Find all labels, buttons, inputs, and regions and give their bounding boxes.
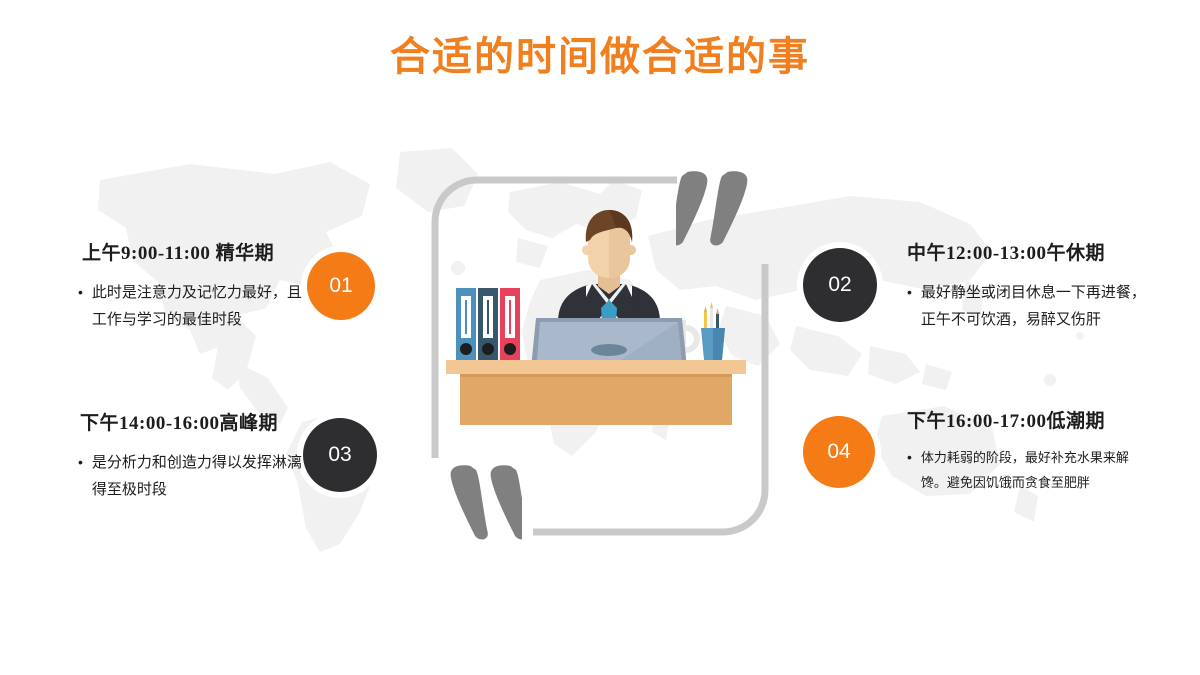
block-heading-04: 下午16:00-17:00低潮期 — [907, 406, 1149, 433]
block-body-03: • 是分析力和创造力得以发挥淋漓得至极时段 — [78, 449, 310, 503]
block-heading-01: 上午9:00-11:00 精华期 — [78, 238, 310, 265]
step-number-circle-02[interactable]: 02 — [803, 248, 877, 322]
block-body-text-01: 此时是注意力及记忆力最好，且工作与学习的最佳时段 — [92, 279, 310, 333]
ring-binders-icon — [456, 288, 520, 360]
block-body-01: • 此时是注意力及记忆力最好，且工作与学习的最佳时段 — [78, 279, 310, 333]
opening-quote-marks-icon — [426, 462, 522, 542]
bullet-icon: • — [907, 279, 921, 333]
page-title: 合适的时间做合适的事 — [0, 24, 1200, 82]
content-block-03: 下午14:00-16:00高峰期 • 是分析力和创造力得以发挥淋漓得至极时段 — [78, 408, 310, 503]
block-body-02: • 最好静坐或闭目休息一下再进餐，正午不可饮酒，易醉又伤肝 — [907, 279, 1149, 333]
slide-canvas: 合适的时间做合适的事 — [0, 0, 1200, 675]
block-body-text-02: 最好静坐或闭目休息一下再进餐，正午不可饮酒，易醉又伤肝 — [921, 279, 1149, 333]
block-heading-02: 中午12:00-13:00午休期 — [907, 238, 1149, 265]
pencil-cup-icon — [701, 302, 725, 360]
bullet-icon: • — [78, 279, 92, 333]
block-body-text-04: 体力耗弱的阶段，最好补充水果来解馋。避免因饥饿而贪食至肥胖 — [921, 445, 1149, 495]
step-number-circle-04[interactable]: 04 — [803, 416, 875, 488]
block-body-04: • 体力耗弱的阶段，最好补充水果来解馋。避免因饥饿而贪食至肥胖 — [907, 445, 1149, 495]
block-heading-03: 下午14:00-16:00高峰期 — [78, 408, 310, 435]
content-block-04: 下午16:00-17:00低潮期 • 体力耗弱的阶段，最好补充水果来解馋。避免因… — [907, 406, 1149, 495]
desk-icon — [446, 360, 746, 425]
content-block-01: 上午9:00-11:00 精华期 • 此时是注意力及记忆力最好，且工作与学习的最… — [78, 238, 310, 333]
block-body-text-03: 是分析力和创造力得以发挥淋漓得至极时段 — [92, 449, 310, 503]
bullet-icon: • — [907, 445, 921, 495]
content-block-02: 中午12:00-13:00午休期 • 最好静坐或闭目休息一下再进餐，正午不可饮酒… — [907, 238, 1149, 333]
bullet-icon: • — [78, 449, 92, 503]
step-number-circle-01[interactable]: 01 — [307, 252, 375, 320]
businessman-at-desk-illustration — [440, 210, 760, 425]
step-number-circle-03[interactable]: 03 — [303, 418, 377, 492]
